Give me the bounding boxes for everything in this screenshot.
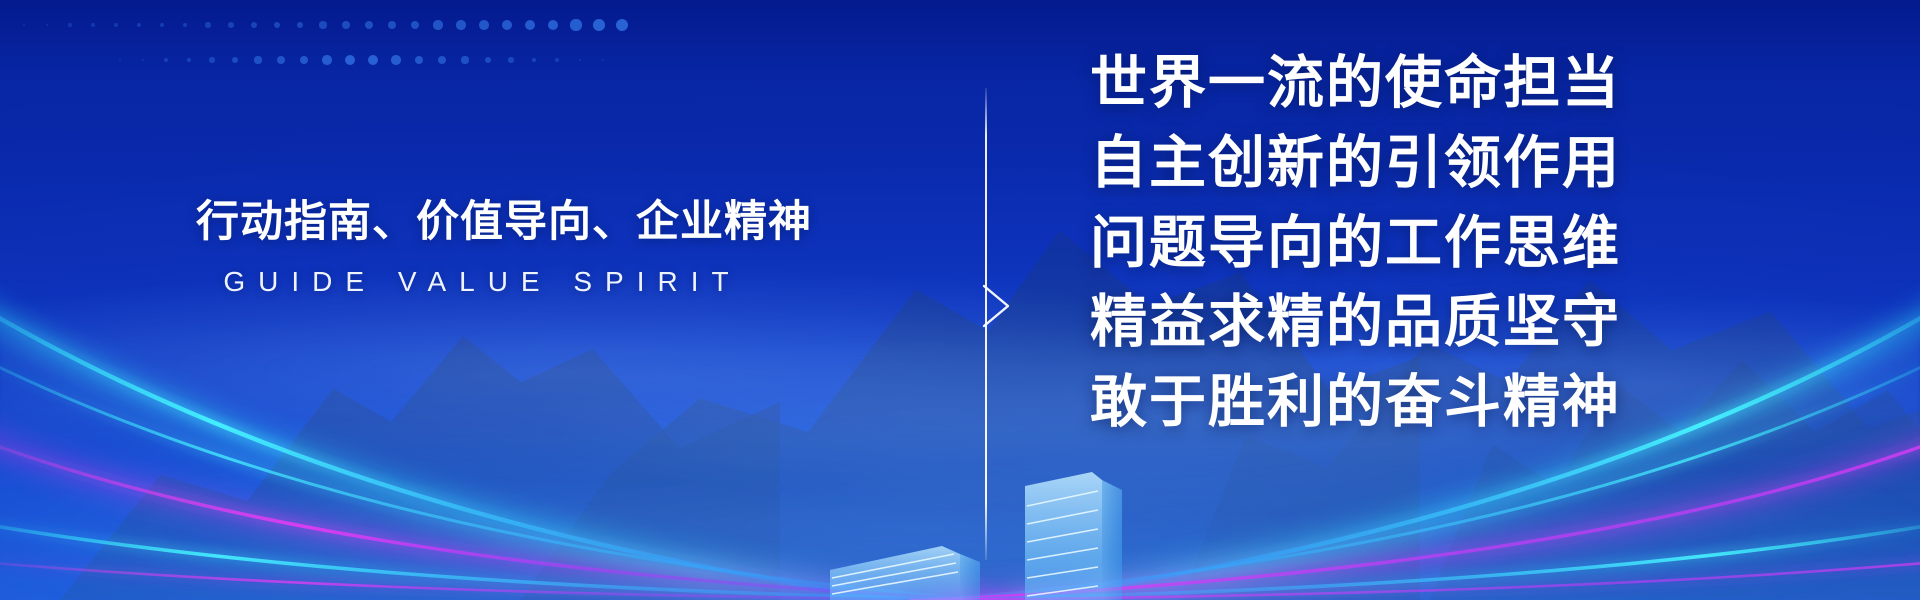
halftone-dot bbox=[300, 56, 309, 65]
halftone-dot bbox=[142, 59, 145, 62]
halftone-dot bbox=[508, 57, 513, 62]
slogan-line-3: 问题导向的工作思维 bbox=[1090, 204, 1710, 284]
slogan-line-4: 精益求精的品质坚守 bbox=[1090, 283, 1710, 363]
halftone-dot bbox=[502, 20, 512, 30]
halftone-dot bbox=[297, 22, 304, 29]
halftone-dot bbox=[548, 20, 559, 31]
right-slogan-list: 世界一流的使命担当 自主创新的引领作用 问题导向的工作思维 精益求精的品质坚守 … bbox=[1090, 44, 1710, 443]
left-text-block: 行动指南、价值导向、企业精神 GUIDE VALUE SPIRIT bbox=[196, 196, 756, 298]
halftone-dot bbox=[274, 22, 280, 28]
halftone-dot bbox=[277, 56, 285, 64]
halftone-dot bbox=[368, 55, 378, 65]
halftone-dot bbox=[187, 58, 192, 63]
skyline-buildings-graphic bbox=[830, 450, 1160, 600]
halftone-dot bbox=[593, 19, 605, 31]
halftone-dot bbox=[228, 22, 234, 28]
halftone-dot bbox=[137, 23, 141, 27]
halftone-dot bbox=[114, 23, 118, 27]
left-headline-cn: 行动指南、价值导向、企业精神 bbox=[196, 196, 756, 250]
halftone-dot bbox=[205, 22, 210, 27]
halftone-dot bbox=[456, 20, 465, 29]
halftone-dot bbox=[119, 59, 121, 61]
halftone-dot bbox=[209, 57, 214, 62]
halftone-dot bbox=[345, 55, 355, 65]
halftone-dot bbox=[411, 21, 420, 30]
halftone-dot bbox=[391, 55, 401, 65]
halftone-dot bbox=[570, 19, 581, 30]
left-subtitle-en: GUIDE VALUE SPIRIT bbox=[196, 266, 756, 298]
halftone-dot bbox=[319, 21, 326, 28]
halftone-dot bbox=[461, 56, 468, 63]
halftone-dot bbox=[322, 55, 332, 65]
halftone-dot bbox=[616, 19, 628, 31]
halftone-dot bbox=[388, 21, 396, 29]
halftone-dot bbox=[485, 57, 491, 63]
halftone-dot bbox=[365, 21, 373, 29]
slogan-line-1: 世界一流的使命担当 bbox=[1090, 44, 1710, 124]
halftone-dot bbox=[438, 56, 446, 64]
halftone-dot bbox=[68, 23, 71, 26]
halftone-dot bbox=[251, 22, 257, 28]
halftone-dot bbox=[555, 58, 559, 62]
chevron-right-icon bbox=[980, 282, 1014, 330]
halftone-dot bbox=[164, 58, 168, 62]
halftone-dot bbox=[602, 59, 604, 61]
halftone-dot bbox=[342, 21, 350, 29]
halftone-dot bbox=[232, 57, 238, 63]
halftone-dot bbox=[415, 56, 424, 65]
halftone-dot bbox=[525, 20, 536, 31]
halftone-dot bbox=[23, 24, 25, 26]
slogan-line-2: 自主创新的引领作用 bbox=[1090, 124, 1710, 204]
halftone-dot bbox=[532, 58, 537, 63]
halftone-dot bbox=[433, 20, 442, 29]
halftone-dot bbox=[46, 24, 49, 27]
corporate-culture-banner: 行动指南、价值导向、企业精神 GUIDE VALUE SPIRIT 世界一流的使… bbox=[0, 0, 1920, 600]
halftone-dot bbox=[160, 23, 165, 28]
halftone-dot bbox=[579, 59, 582, 62]
halftone-dot bbox=[91, 23, 95, 27]
halftone-dot bbox=[254, 56, 261, 63]
halftone-dot bbox=[183, 23, 188, 28]
slogan-line-5: 敢于胜利的奋斗精神 bbox=[1090, 363, 1710, 443]
halftone-dot-pattern bbox=[0, 0, 760, 110]
halftone-dot bbox=[479, 20, 489, 30]
